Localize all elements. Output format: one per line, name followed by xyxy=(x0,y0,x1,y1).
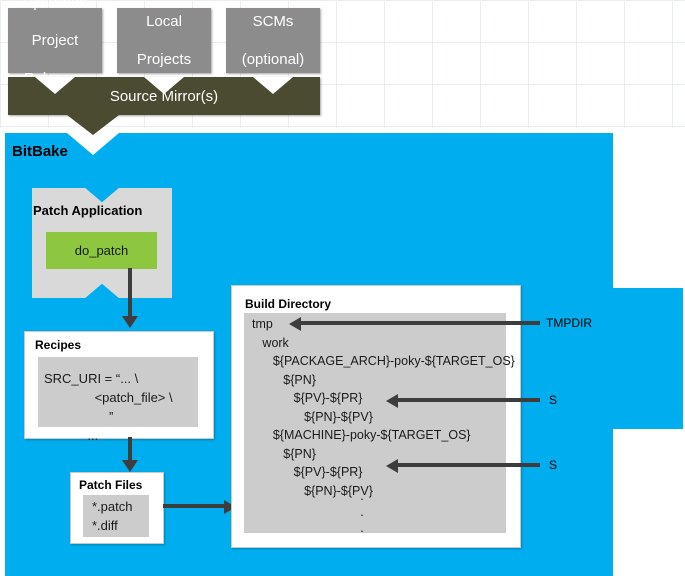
patch-files-item: *.patch xyxy=(92,497,132,516)
build-directory-ellipsis: . . . xyxy=(352,488,372,536)
source-line: Projects xyxy=(137,50,191,69)
arrow-s-lower-head xyxy=(386,459,398,473)
patch-files-title: Patch Files xyxy=(79,478,142,492)
source-box-local-projects: Local Projects xyxy=(117,8,211,73)
mirror-notch-local xyxy=(144,77,184,94)
source-box-scms-text: SCMs (optional) xyxy=(242,12,305,69)
mirror-output-chevron xyxy=(67,115,119,135)
arrow-recipes-to-patch-files-head xyxy=(122,460,138,472)
ellipsis-dot: . xyxy=(352,504,372,520)
source-line: Project xyxy=(22,31,87,50)
recipes-src-uri-code: SRC_URI = “... \ <patch_file> \ ” ... xyxy=(44,369,173,445)
mirror-notch-upstream xyxy=(35,77,75,94)
source-line: (optional) xyxy=(242,50,305,69)
source-box-upstream: Upstream Project Releases xyxy=(8,8,102,73)
bitbake-panel-extension xyxy=(613,288,683,429)
arrow-do-patch-to-recipes-shaft xyxy=(128,268,132,318)
mirror-notch-scms xyxy=(253,77,293,94)
arrow-recipes-to-patch-files-shaft xyxy=(128,437,132,462)
ellipsis-dot: . xyxy=(352,488,372,504)
source-line: SCMs xyxy=(242,12,305,31)
arrow-s-lower-shaft xyxy=(397,463,540,467)
do-patch-task[interactable]: do_patch xyxy=(46,232,157,269)
source-line: Local xyxy=(137,12,191,31)
label-tmpdir: TMPDIR xyxy=(546,316,592,330)
bitbake-label: BitBake xyxy=(12,143,68,160)
ellipsis-dot: . xyxy=(352,520,372,536)
label-s-lower: S xyxy=(549,458,557,472)
arrow-tmpdir-shaft xyxy=(300,321,540,325)
do-patch-label: do_patch xyxy=(75,243,129,258)
patch-files-list: *.patch *.diff xyxy=(92,497,132,535)
label-s-upper: S xyxy=(549,393,557,407)
source-box-upstream-text: Upstream Project Releases xyxy=(22,0,87,88)
arrow-tmpdir-head xyxy=(289,317,301,331)
patch-application-title: Patch Application xyxy=(33,203,142,218)
source-line: Upstream xyxy=(22,0,87,12)
diagram-canvas: BitBake Upstream Project Releases Local … xyxy=(0,0,685,576)
source-box-local-text: Local Projects xyxy=(137,12,191,69)
arrow-s-upper-shaft xyxy=(397,398,540,402)
arrow-do-patch-to-recipes-head xyxy=(122,316,138,328)
build-directory-title: Build Directory xyxy=(245,297,331,311)
patch-files-item: *.diff xyxy=(92,516,132,535)
arrow-s-upper-head xyxy=(386,394,398,408)
build-directory-tree: tmp work ${PACKAGE_ARCH}-poky-${TARGET_O… xyxy=(252,315,515,500)
recipes-title: Recipes xyxy=(35,338,81,352)
bitbake-inlet-notch xyxy=(67,133,119,155)
arrow-patch-files-to-build-dir-shaft xyxy=(163,504,225,508)
source-box-scms: SCMs (optional) xyxy=(226,8,320,73)
